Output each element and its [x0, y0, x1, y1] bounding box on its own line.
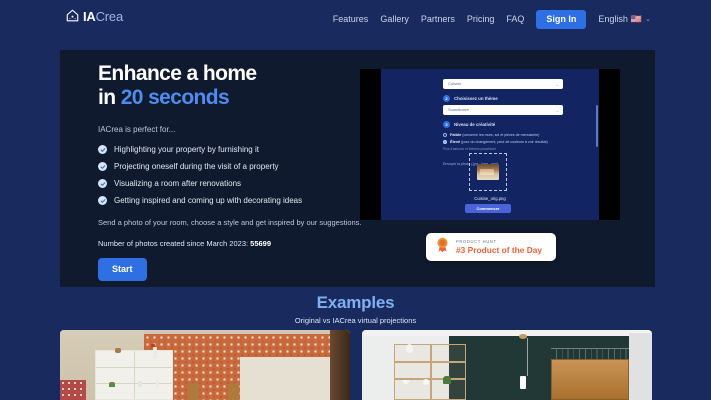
list-item: Highlighting your property by furnishing… — [98, 145, 388, 154]
iacrea-projection-photo[interactable] — [362, 330, 652, 400]
house-icon — [65, 8, 80, 23]
demo-step3-number: 3 — [443, 121, 450, 128]
list-item: Getting inspired and coming up with deco… — [98, 196, 388, 205]
demo-step2-text: Choisissez un thème — [454, 96, 498, 101]
start-button[interactable]: Start — [98, 258, 147, 281]
demo-room-select: Cuisine ⌄ — [443, 79, 563, 89]
hero-panel: Enhance a home in 20 seconds IACrea is p… — [60, 50, 655, 287]
benefit-label: Highlighting your property by furnishing… — [114, 145, 259, 154]
product-hunt-texts: PRODUCT HUNT #3 Product of the Day — [456, 239, 542, 255]
chevron-down-icon: ⌄ — [645, 15, 651, 23]
demo-submit-button: Commencer — [465, 204, 511, 213]
site-header: IACrea Features Gallery Partners Pricing… — [0, 0, 711, 39]
photo-shelf-divider — [134, 351, 135, 399]
product-hunt-title: #3 Product of the Day — [456, 245, 542, 255]
photo-dark-edge — [330, 330, 350, 400]
list-item: Visualizing a room after renovations — [98, 179, 388, 188]
nav-item-features[interactable]: Features — [333, 8, 369, 30]
photo-jar — [138, 381, 142, 387]
main-navigation: Features Gallery Partners Pricing FAQ Si… — [333, 8, 651, 30]
medal-icon — [435, 237, 450, 258]
photo-wood-shelving — [394, 344, 467, 400]
photo-shelf-divider — [430, 345, 431, 399]
photo-plant — [109, 382, 115, 387]
logo[interactable]: IACrea — [65, 8, 123, 23]
examples-subtitle: Original vs IACrea virtual projections — [0, 316, 711, 325]
demo-step3-text: Niveau de créativité — [454, 122, 495, 127]
photo-sofa — [60, 380, 86, 400]
demo-dropzone — [469, 153, 507, 191]
photo-bottle — [156, 379, 159, 388]
photo-vase — [406, 344, 413, 353]
language-selector[interactable]: English 🇺🇸 ⌄ — [598, 14, 651, 25]
photo-wood-cabinet — [551, 359, 629, 400]
photo-counter: Number of photos created since March 202… — [98, 239, 388, 248]
scrollbar — [596, 105, 598, 147]
demo-step2-label: 2 Choisissez un thème — [443, 95, 498, 102]
demo-step3-label: 3 Niveau de créativité — [443, 121, 495, 128]
demo-radio-high-label: Élevé — [450, 139, 460, 144]
hero-subtitle: IACrea is perfect for... — [98, 125, 388, 134]
check-circle-icon — [98, 196, 107, 205]
nav-item-partners[interactable]: Partners — [421, 8, 455, 30]
demo-theme-select: Scandinave ⌄ — [443, 105, 563, 115]
logo-text-crea: Crea — [96, 9, 123, 24]
photo-pendant-cord — [527, 338, 528, 376]
demo-radio-low: Faible (conserve les murs, sol et pièces… — [443, 132, 539, 138]
radio-icon — [443, 133, 447, 137]
examples-header: Examples Original vs IACrea virtual proj… — [0, 293, 711, 325]
benefit-list: Highlighting your property by furnishing… — [98, 145, 388, 205]
chevron-down-icon: ⌄ — [556, 108, 559, 113]
photo-white-wall — [240, 357, 330, 400]
photo-canister — [153, 347, 157, 359]
page-title: Enhance a home in 20 seconds — [98, 62, 388, 109]
hero-title-line2-prefix: in — [98, 86, 121, 109]
original-room-photo[interactable] — [60, 330, 350, 400]
photo-basket — [115, 348, 121, 353]
photo-right-wall — [629, 333, 652, 400]
demo-step2-number: 2 — [443, 95, 450, 102]
flag-icon: 🇺🇸 — [631, 14, 642, 25]
demo-theme-value: Scandinave — [448, 107, 469, 112]
benefit-label: Getting inspired and coming up with deco… — [114, 196, 302, 205]
demo-radio-high-desc: (pour du changement, peut dé couleurs à … — [461, 140, 548, 144]
nav-item-gallery[interactable]: Gallery — [380, 8, 409, 30]
logo-text-ia: IA — [83, 9, 96, 24]
check-circle-icon — [98, 145, 107, 154]
photo-ceiling-rose — [519, 334, 527, 339]
photo-bowl — [423, 379, 429, 385]
hero-note: Send a photo of your room, choose a styl… — [98, 218, 388, 227]
hero-title-highlight: 20 seconds — [121, 86, 229, 109]
chevron-down-icon: ⌄ — [556, 82, 559, 87]
photo-shelving-unit — [95, 350, 173, 400]
product-hunt-kicker: PRODUCT HUNT — [456, 239, 542, 244]
nav-item-pricing[interactable]: Pricing — [467, 8, 495, 30]
demo-radio-low-label: Faible — [450, 132, 461, 137]
demo-room-value: Cuisine — [448, 81, 461, 86]
examples-title: Examples — [0, 293, 711, 313]
hero-content: Enhance a home in 20 seconds IACrea is p… — [98, 62, 388, 281]
photo-counter-value: 55699 — [250, 239, 271, 248]
photo-pendant-lamp — [520, 376, 526, 389]
photo-chair — [228, 383, 239, 400]
photo-plant — [443, 376, 451, 384]
demo-filename: Cuisine_orig.png — [381, 196, 599, 201]
sign-in-button[interactable]: Sign In — [536, 10, 586, 29]
photo-tile-border — [144, 334, 330, 341]
nav-item-faq[interactable]: FAQ — [506, 8, 524, 30]
radio-icon — [443, 140, 447, 144]
demo-radio-hint: Plus d'astuces et thèmes possédant — [443, 147, 496, 151]
product-hunt-badge[interactable]: PRODUCT HUNT #3 Product of the Day — [426, 233, 556, 261]
check-circle-icon — [98, 162, 107, 171]
hero-title-line1: Enhance a home — [98, 62, 256, 85]
photo-chair — [188, 383, 199, 400]
benefit-label: Projecting oneself during the visit of a… — [114, 162, 279, 171]
demo-dropzone-title: Envoyer la photo — [443, 162, 470, 166]
photo-wall-rail — [551, 348, 629, 359]
check-circle-icon — [98, 179, 107, 188]
photo-red-object — [151, 344, 155, 347]
logo-wordmark: IACrea — [83, 9, 123, 23]
demo-radio-high: Élevé (pour du changement, peut dé coule… — [443, 139, 548, 145]
language-label: English — [598, 14, 628, 24]
demo-video-player[interactable]: Cuisine ⌄ 2 Choisissez un thème Scandina… — [360, 69, 620, 220]
demo-app-screen: Cuisine ⌄ 2 Choisissez un thème Scandina… — [381, 69, 599, 220]
examples-gallery — [60, 330, 655, 400]
photo-counter-label: Number of photos created since March 202… — [98, 239, 250, 248]
landing-page: IACrea Features Gallery Partners Pricing… — [0, 0, 711, 400]
benefit-label: Visualizing a room after renovations — [114, 179, 241, 188]
demo-radio-low-desc: (conserve les murs, sol et pièces de men… — [462, 133, 539, 137]
list-item: Projecting oneself during the visit of a… — [98, 162, 388, 171]
demo-photo-thumbnail — [477, 164, 499, 180]
